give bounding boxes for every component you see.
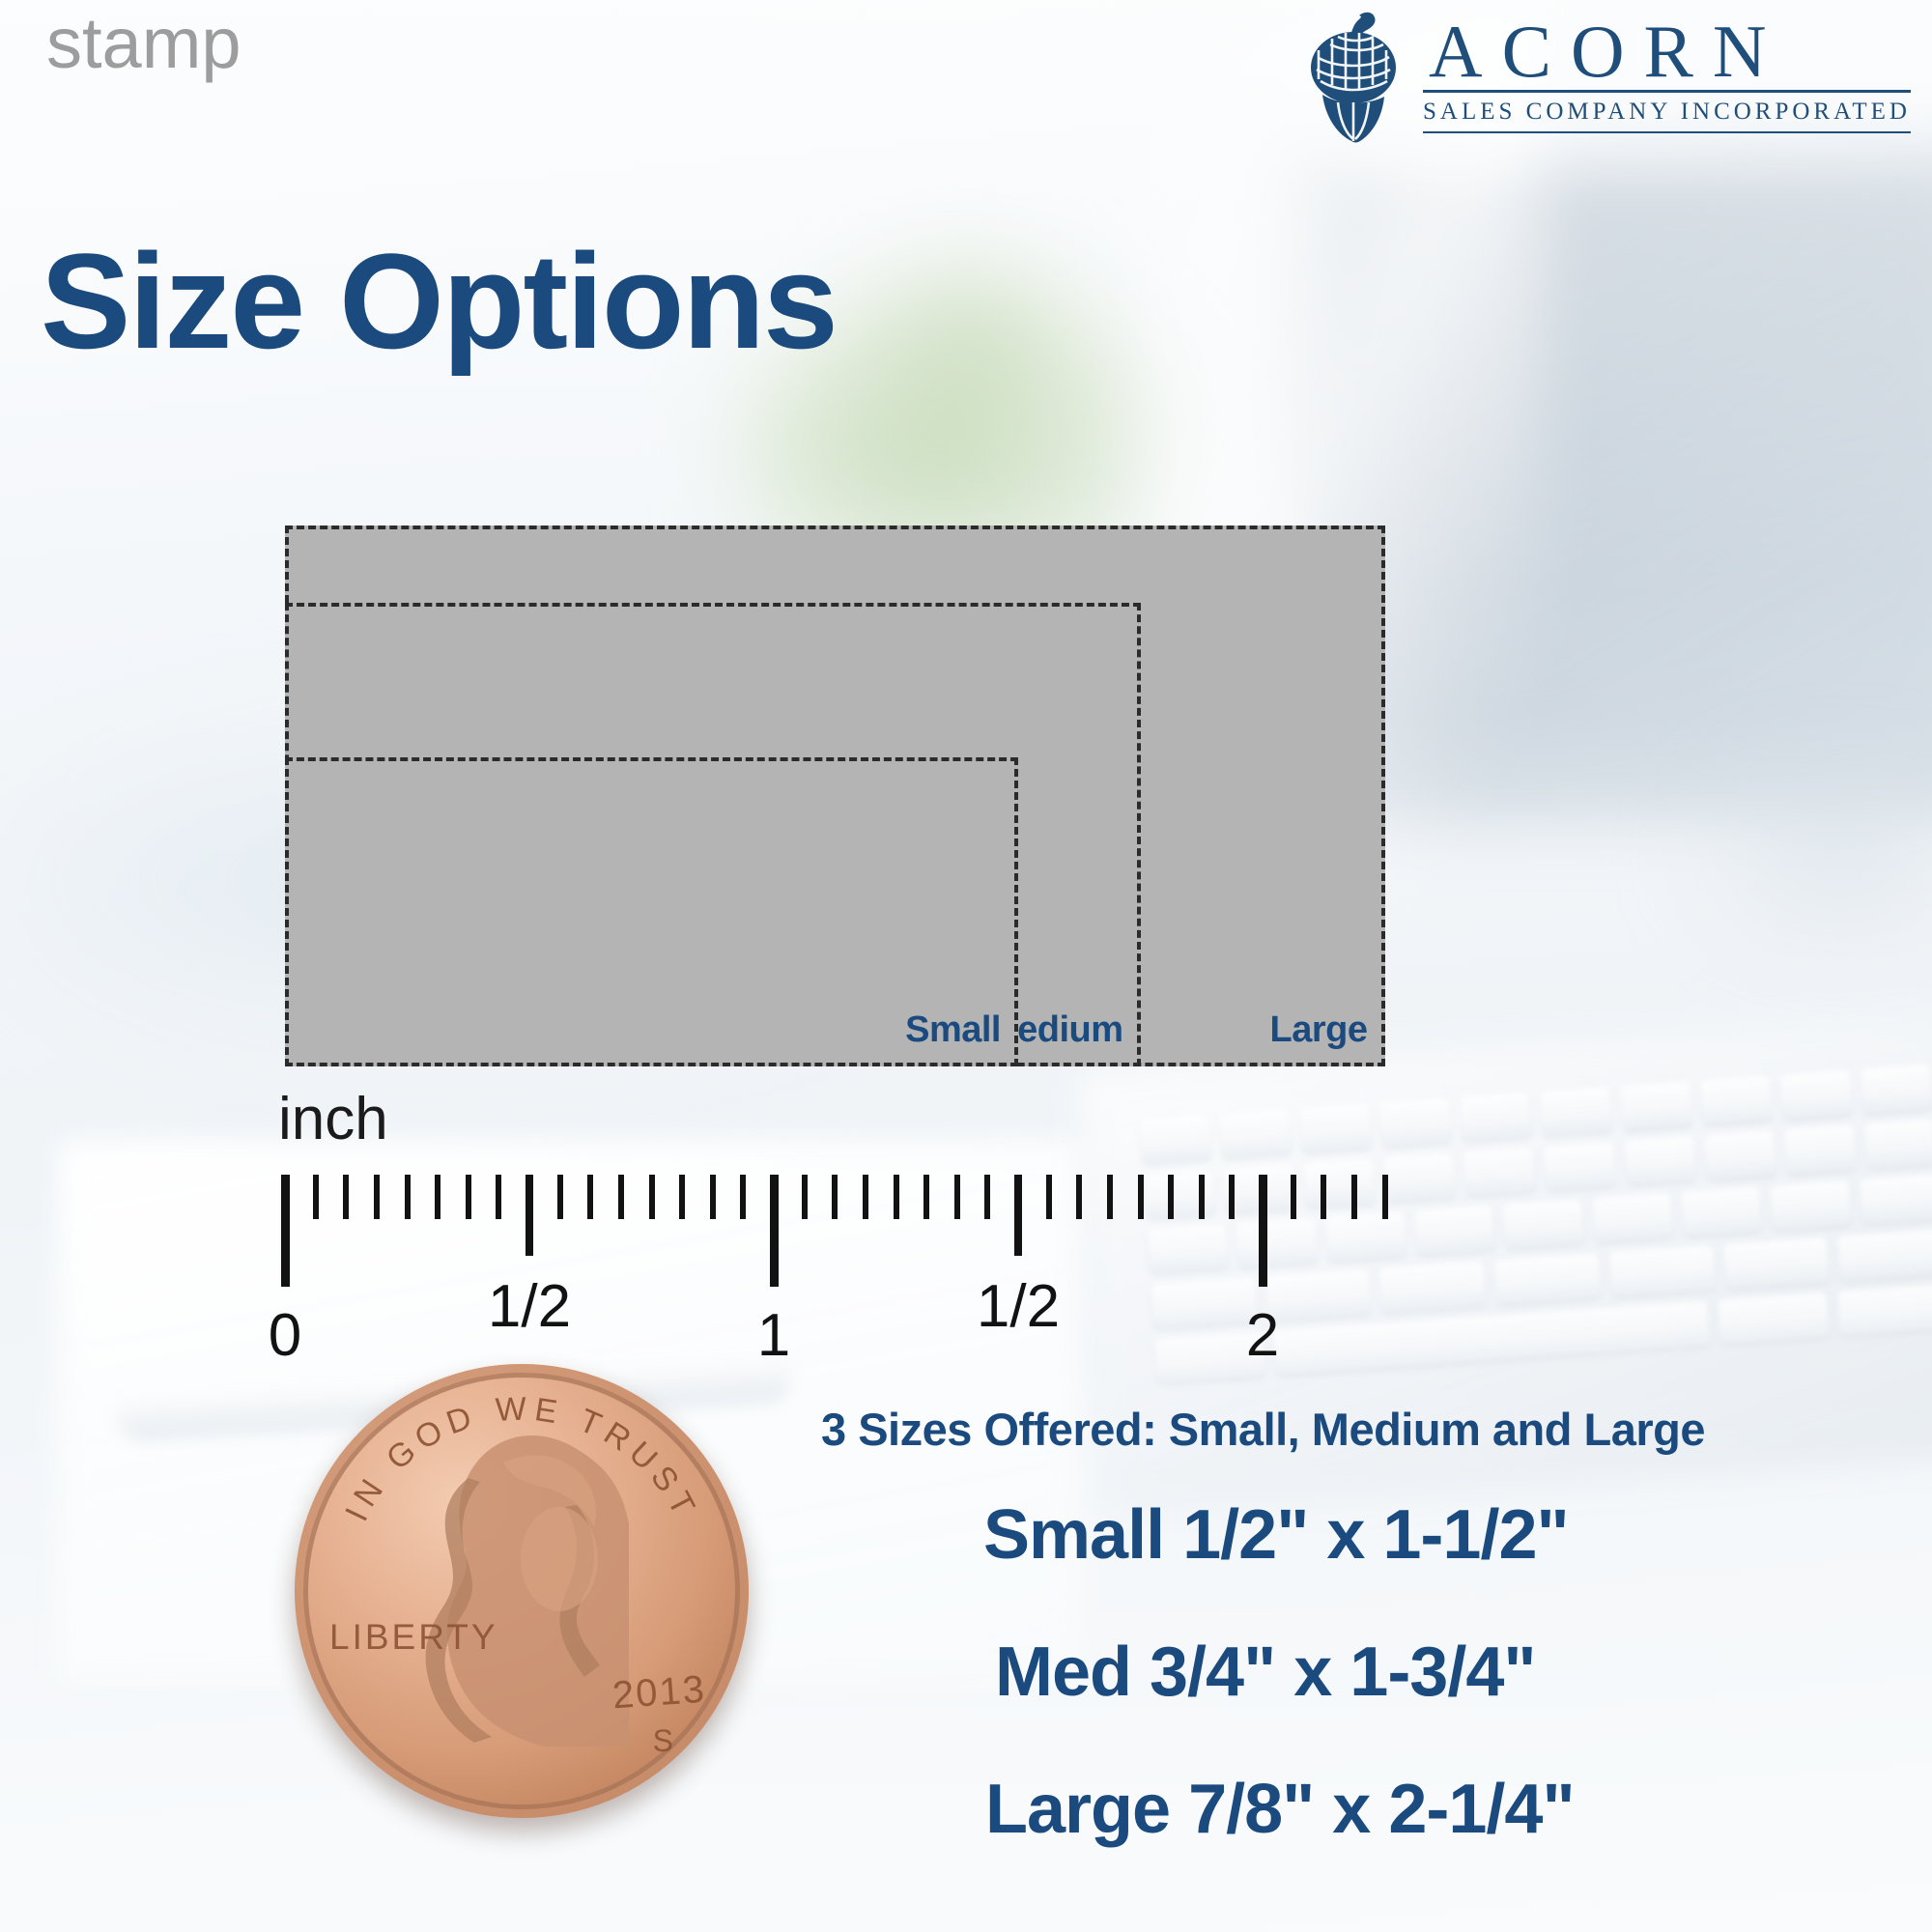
ruler-tick — [1321, 1175, 1326, 1219]
ruler-number: 1 — [757, 1306, 790, 1366]
ruler-number: 1/2 — [977, 1277, 1060, 1337]
penny-coin: IN GOD WE TRUST LIBERTY 2013 S — [295, 1364, 749, 1818]
ruler-tick — [1291, 1175, 1296, 1219]
ruler-tick — [1138, 1175, 1144, 1219]
ruler-tick — [1382, 1175, 1388, 1219]
size-line-large: Large 7/8" x 2-1/4" — [985, 1770, 1575, 1849]
ruler-tick — [1168, 1175, 1174, 1219]
ruler-tick — [863, 1175, 868, 1219]
ruler-tick — [281, 1175, 290, 1287]
penny-liberty-text: LIBERTY — [329, 1617, 498, 1658]
ruler-tick — [496, 1175, 501, 1219]
ruler-number: 0 — [269, 1306, 301, 1366]
ruler-tick — [374, 1175, 380, 1219]
ruler-tick — [1014, 1175, 1022, 1256]
ruler-tick — [557, 1175, 563, 1219]
ruler-tick — [587, 1175, 593, 1219]
ruler-tick — [770, 1175, 779, 1287]
sizes-offered-heading: 3 Sizes Offered: Small, Medium and Large — [821, 1403, 1705, 1456]
ruler-tick — [923, 1175, 929, 1219]
ruler-tick — [466, 1175, 471, 1219]
ruler-unit-label: inch — [278, 1090, 388, 1150]
ruler-tick — [802, 1175, 808, 1219]
size-box-label-small: Small — [905, 1009, 1001, 1051]
ruler-tick — [405, 1175, 411, 1219]
ruler-tick — [1351, 1175, 1357, 1219]
ruler-tick — [1046, 1175, 1052, 1219]
ruler-tick — [435, 1175, 440, 1219]
ruler-tick — [618, 1175, 624, 1219]
ruler-tick — [832, 1175, 838, 1219]
penny-mint-mark: S — [653, 1723, 673, 1759]
ruler-tick — [1199, 1175, 1205, 1219]
ruler-tick — [710, 1175, 716, 1219]
ruler-tick — [526, 1175, 533, 1256]
ruler-tick — [740, 1175, 746, 1219]
size-line-medium: Med 3/4" x 1-3/4" — [995, 1633, 1536, 1712]
ruler-tick — [1259, 1175, 1267, 1287]
ruler-number: 2 — [1246, 1306, 1279, 1366]
ruler-tick — [1229, 1175, 1235, 1219]
ruler-tick — [894, 1175, 899, 1219]
ruler-tick — [313, 1175, 319, 1219]
size-line-small: Small 1/2" x 1-1/2" — [983, 1495, 1569, 1575]
size-box-small: Small — [285, 757, 1018, 1066]
penny-year-text: 2013 — [611, 1668, 708, 1719]
lincoln-bust — [387, 1414, 677, 1818]
ruler-tick — [1107, 1175, 1113, 1219]
size-options-graphic: stamp Size Options ACORN SALES COMPANY — [0, 0, 1932, 1932]
ruler-tick — [679, 1175, 685, 1219]
ruler-number: 1/2 — [488, 1277, 571, 1337]
ruler-tick — [343, 1175, 349, 1219]
ruler-tick — [954, 1175, 960, 1219]
ruler-tick — [984, 1175, 990, 1219]
ruler-tick — [1076, 1175, 1082, 1219]
size-box-label-large: Large — [1270, 1009, 1368, 1051]
ruler-tick — [649, 1175, 655, 1219]
